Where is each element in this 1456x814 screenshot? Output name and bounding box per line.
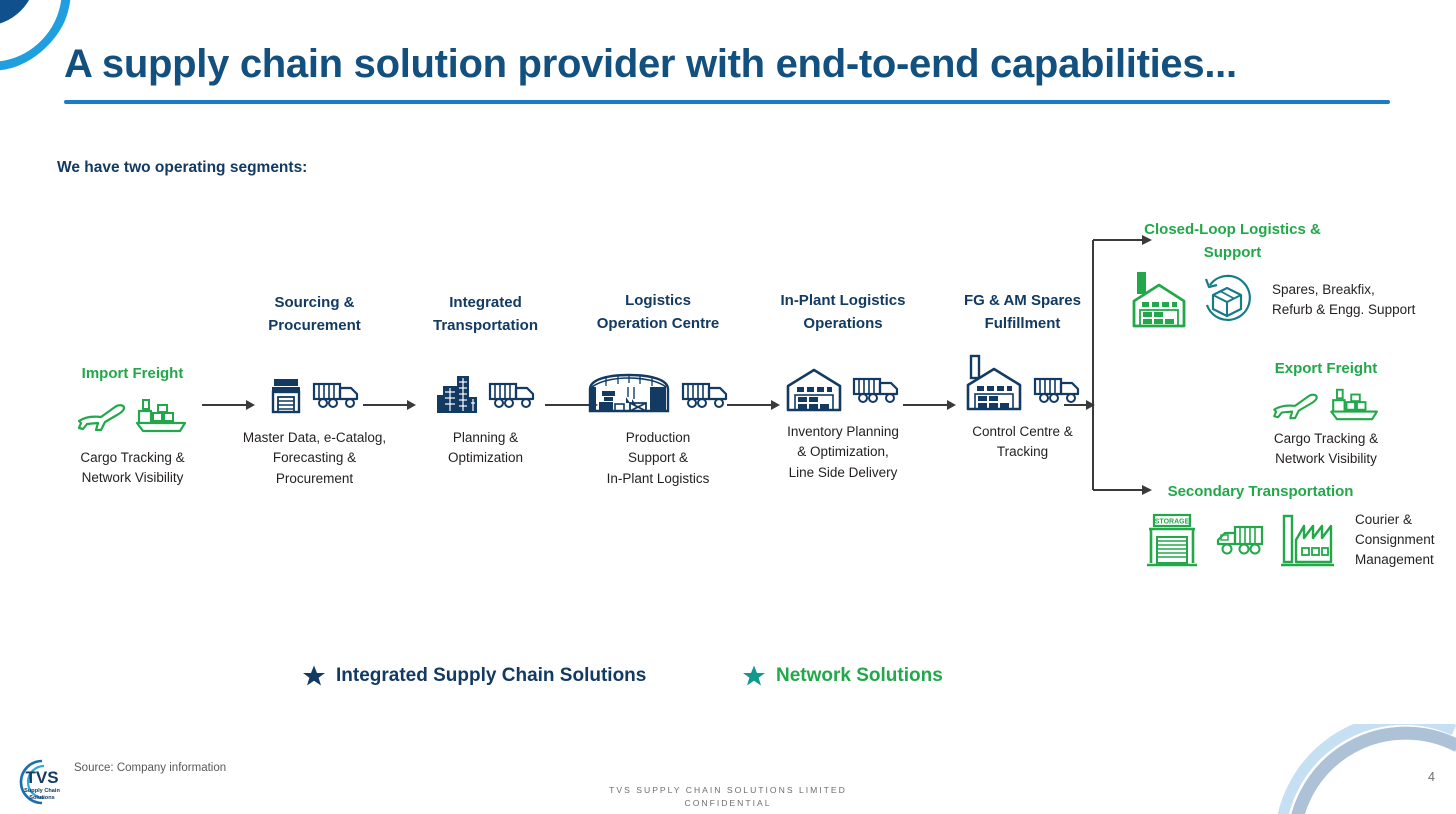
branch-title: Secondary Transportation	[1143, 481, 1378, 504]
star-icon	[302, 664, 326, 688]
branch-closed-loop-logistics: Closed-Loop Logistics & Support	[1130, 219, 1415, 330]
stage-description: Planning & Optimization	[393, 428, 578, 469]
stage-title: Sourcing & Procurement	[222, 292, 407, 338]
stage-icon-group	[40, 392, 225, 438]
storage-unit-icon: STORAGE	[1143, 511, 1201, 569]
legend-label: Integrated Supply Chain Solutions	[336, 665, 646, 687]
stage-description: Inventory Planning & Optimization, Line …	[743, 422, 943, 484]
branch-description: Cargo Tracking & Network Visibility	[1236, 429, 1416, 470]
svg-text:STORAGE: STORAGE	[1155, 518, 1190, 525]
factory-icon	[1279, 512, 1335, 568]
branch-icon-group	[1236, 383, 1416, 425]
storage-warehouse-icon	[269, 376, 303, 414]
delivery-truck-icon	[680, 378, 730, 412]
flow-stage-integrated-transportation: Integrated Transportation	[393, 292, 578, 469]
flow-stage-logistics-operation-centre: Logistics Operation Centre	[558, 290, 758, 489]
stage-description: Cargo Tracking & Network Visibility	[40, 448, 225, 489]
branch-title: Export Freight	[1236, 358, 1416, 381]
stage-description: Master Data, e-Catalog, Forecasting & Pr…	[222, 428, 407, 490]
stage-title: Integrated Transportation	[393, 292, 578, 338]
factory-hangar-icon	[586, 373, 672, 417]
stage-title: In-Plant Logistics Operations	[743, 290, 943, 336]
delivery-truck-icon	[487, 378, 537, 412]
legend-integrated-supply-chain: Integrated Supply Chain Solutions	[302, 664, 646, 688]
branch-description: Courier & Consignment Management	[1355, 510, 1435, 571]
warehouse-icon	[785, 366, 843, 414]
delivery-truck-icon	[311, 378, 361, 412]
stage-title: Logistics Operation Centre	[558, 290, 758, 336]
page-number: 4	[1428, 770, 1435, 784]
airplane-icon	[1269, 387, 1321, 421]
branch-title: Closed-Loop Logistics & Support	[1130, 219, 1335, 264]
branch-export-freight: Export Freight Cargo Tracking & Network …	[1236, 358, 1416, 469]
flow-stage-sourcing-procurement: Sourcing & Procurement	[222, 292, 407, 489]
star-icon	[742, 664, 766, 688]
branch-secondary-transportation: Secondary Transportation STORAGE	[1143, 481, 1435, 570]
airplane-icon	[75, 397, 127, 433]
confidential-footer: TVS SUPPLY CHAIN SOLUTIONS LIMITED CONFI…	[0, 784, 1456, 811]
delivery-truck-icon	[851, 373, 901, 407]
flow-stage-in-plant-logistics: In-Plant Logistics Operations	[743, 290, 943, 483]
title-underline	[64, 100, 1390, 104]
box-truck-icon	[1213, 519, 1269, 561]
flow-stage-import-freight: Import Freight Cargo Tracking & Network …	[40, 363, 225, 489]
source-note: Source: Company information	[74, 762, 226, 774]
branch-body: STORAGE	[1143, 510, 1435, 571]
legend-network-solutions: Network Solutions	[742, 664, 943, 688]
plant-warehouse-icon	[964, 352, 1024, 414]
slide-root: A supply chain solution provider with en…	[0, 0, 1456, 814]
page-title: A supply chain solution provider with en…	[64, 42, 1237, 87]
branch-description: Spares, Breakfix, Refurb & Engg. Support	[1272, 280, 1415, 321]
stage-title: Import Freight	[40, 363, 225, 386]
cargo-ship-icon	[135, 395, 191, 435]
subhead: We have two operating segments:	[57, 159, 307, 177]
returns-package-icon	[1198, 271, 1256, 329]
stage-description: Production Support & In-Plant Logistics	[558, 428, 758, 490]
office-buildings-icon	[435, 373, 479, 417]
cargo-ship-icon	[1329, 385, 1383, 423]
branch-body: Spares, Breakfix, Refurb & Engg. Support	[1130, 270, 1415, 330]
legend-label: Network Solutions	[776, 665, 943, 687]
green-plant-warehouse-icon	[1130, 270, 1188, 330]
